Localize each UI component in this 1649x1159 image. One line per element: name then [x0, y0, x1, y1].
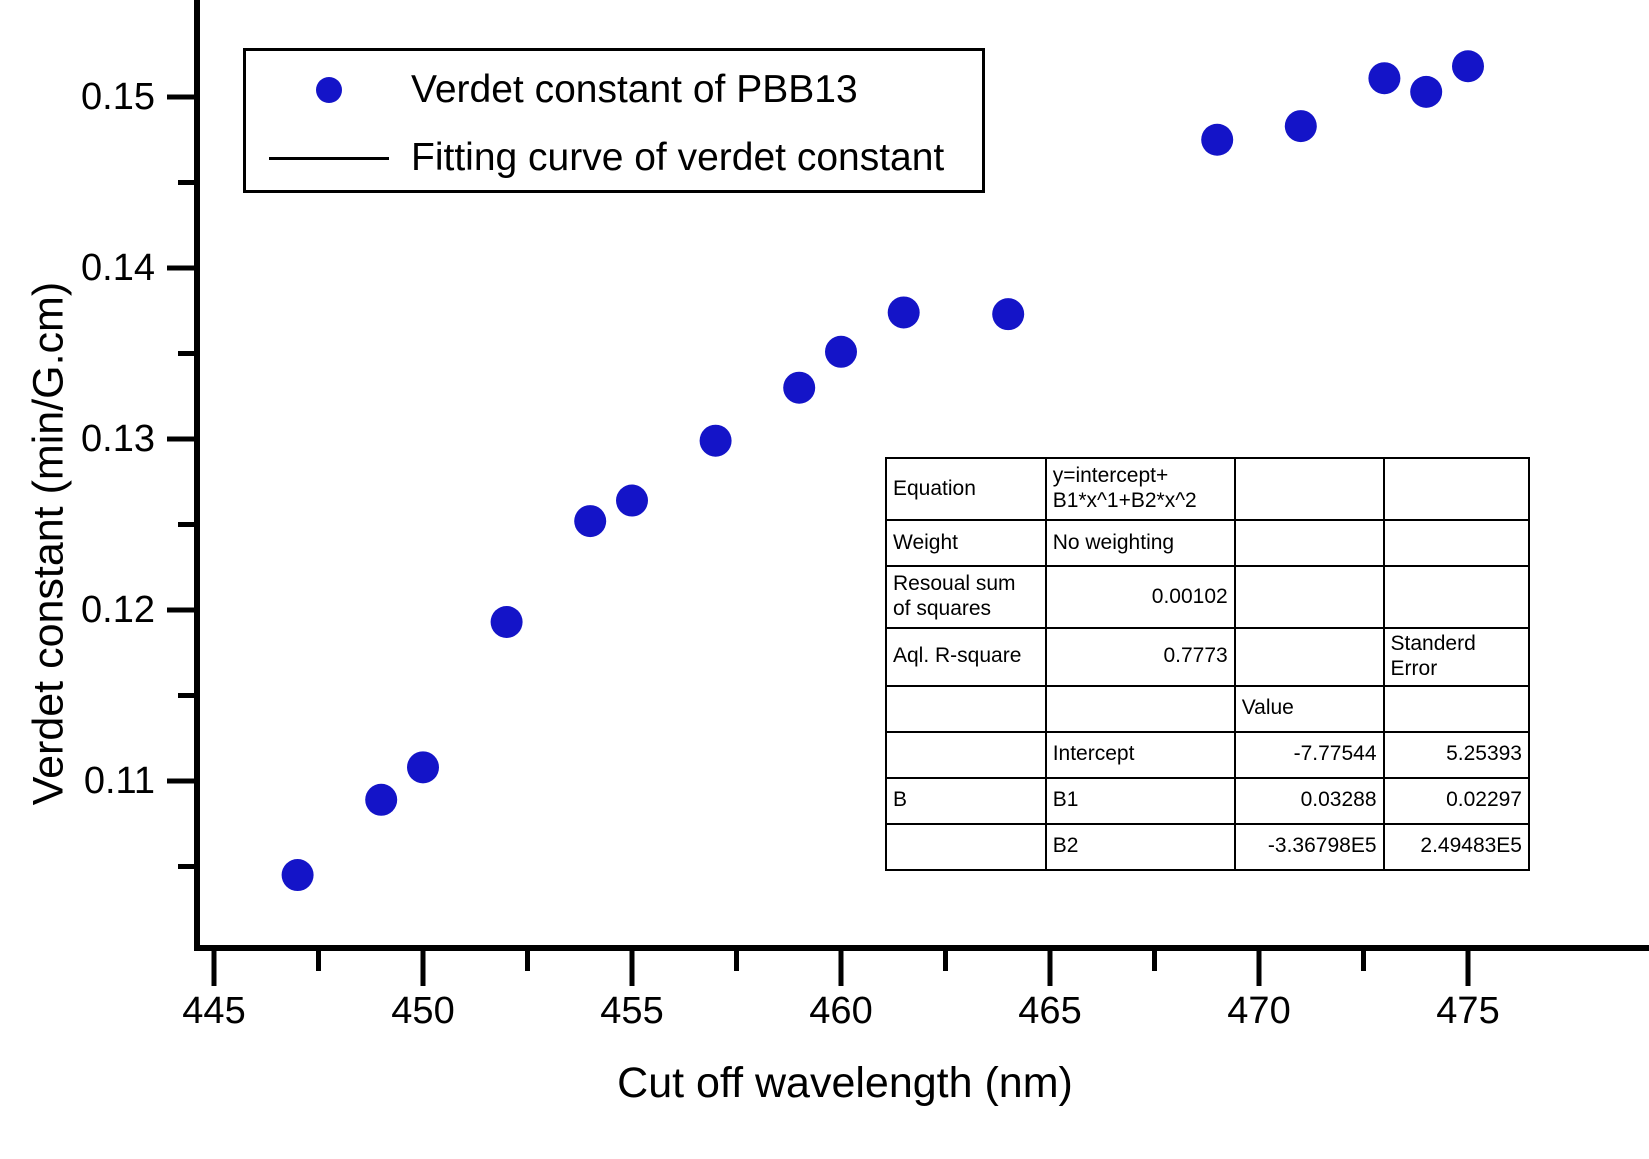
intercept-empty-label	[886, 732, 1046, 778]
b1-label: B1	[1046, 778, 1235, 824]
data-point	[825, 336, 857, 368]
legend-entry-scatter: Verdet constant of PBB13	[246, 55, 982, 125]
table-row: Aql. R-square 0.7773 Standerd Error	[886, 628, 1529, 686]
x-tick-label: 445	[134, 992, 294, 1030]
b2-label: B2	[1046, 824, 1235, 870]
y-tick-label: 0.11	[0, 762, 155, 800]
data-point	[282, 859, 314, 891]
y-tick-label: 0.15	[0, 78, 155, 116]
x-tick-label: 460	[761, 992, 921, 1030]
value-row-empty-error	[1384, 686, 1529, 732]
table-row: B2 -3.36798E5 2.49483E5	[886, 824, 1529, 870]
x-tick-label: 470	[1179, 992, 1339, 1030]
weight-empty-value	[1235, 520, 1384, 566]
value-row-empty-param	[1046, 686, 1235, 732]
data-point	[1201, 124, 1233, 156]
weight-empty-error	[1384, 520, 1529, 566]
intercept-label: Intercept	[1046, 732, 1235, 778]
fit-statistics-table: Equation y=intercept+ B1*x^1+B2*x^2 Weig…	[885, 457, 1530, 871]
x-tick-label: 455	[552, 992, 712, 1030]
b1-error: 0.02297	[1384, 778, 1529, 824]
data-point	[574, 505, 606, 537]
y-tick-label: 0.14	[0, 249, 155, 287]
data-point	[407, 751, 439, 783]
y-tick-label: 0.13	[0, 420, 155, 458]
data-point	[491, 606, 523, 638]
chart-page: Verdet constant (min/G.cm) Cut off wavel…	[0, 0, 1649, 1159]
table-row: Intercept -7.77544 5.25393	[886, 732, 1529, 778]
rss-label: Resoual sum of squares	[886, 566, 1046, 628]
table-row: Resoual sum of squares 0.00102	[886, 566, 1529, 628]
equation-line-2: B1*x^1+B2*x^2	[1053, 489, 1228, 514]
chart-legend: Verdet constant of PBB13 Fitting curve o…	[243, 48, 985, 193]
rsquare-label: Aql. R-square	[886, 628, 1046, 686]
b1-value: 0.03288	[1235, 778, 1384, 824]
legend-entry-fit: Fitting curve of verdet constant	[246, 123, 982, 193]
data-point	[1285, 110, 1317, 142]
intercept-value: -7.77544	[1235, 732, 1384, 778]
data-point	[365, 784, 397, 816]
legend-fit-label: Fitting curve of verdet constant	[411, 136, 944, 180]
x-tick-label: 465	[970, 992, 1130, 1030]
x-tick-label: 450	[343, 992, 503, 1030]
y-tick-label: 0.12	[0, 591, 155, 629]
weight-value: No weighting	[1046, 520, 1235, 566]
standard-error-header: Standerd Error	[1384, 628, 1529, 686]
equation-value: y=intercept+ B1*x^1+B2*x^2	[1046, 458, 1235, 520]
rsquare-empty-value	[1235, 628, 1384, 686]
table-row: Weight No weighting	[886, 520, 1529, 566]
data-point	[783, 372, 815, 404]
x-axis-ticks	[214, 948, 1468, 986]
rss-empty-error	[1384, 566, 1529, 628]
data-point	[616, 485, 648, 517]
weight-label: Weight	[886, 520, 1046, 566]
rss-empty-value	[1235, 566, 1384, 628]
data-point	[888, 296, 920, 328]
equation-line-1: y=intercept+	[1053, 464, 1228, 489]
intercept-error: 5.25393	[1384, 732, 1529, 778]
rss-label-line-1: Resoual sum	[893, 572, 1039, 597]
y-axis-ticks	[167, 97, 197, 867]
x-tick-label: 475	[1388, 992, 1548, 1030]
equation-label: Equation	[886, 458, 1046, 520]
table-row: Value	[886, 686, 1529, 732]
data-point	[700, 425, 732, 457]
data-point	[1410, 76, 1442, 108]
data-point	[1452, 50, 1484, 82]
equation-empty-error	[1384, 458, 1529, 520]
b2-error: 2.49483E5	[1384, 824, 1529, 870]
data-point	[992, 298, 1024, 330]
rss-value: 0.00102	[1046, 566, 1235, 628]
legend-marker-icon	[246, 77, 411, 103]
rss-label-line-2: of squares	[893, 597, 1039, 622]
b2-value: -3.36798E5	[1235, 824, 1384, 870]
table-row: B B1 0.03288 0.02297	[886, 778, 1529, 824]
data-point	[1368, 62, 1400, 94]
table-row: Equation y=intercept+ B1*x^1+B2*x^2	[886, 458, 1529, 520]
b-label: B	[886, 778, 1046, 824]
rsquare-value: 0.7773	[1046, 628, 1235, 686]
equation-empty-value	[1235, 458, 1384, 520]
legend-scatter-label: Verdet constant of PBB13	[411, 68, 858, 112]
legend-line-icon	[246, 157, 411, 160]
b2-empty-label	[886, 824, 1046, 870]
value-header: Value	[1235, 686, 1384, 732]
value-row-empty-label	[886, 686, 1046, 732]
